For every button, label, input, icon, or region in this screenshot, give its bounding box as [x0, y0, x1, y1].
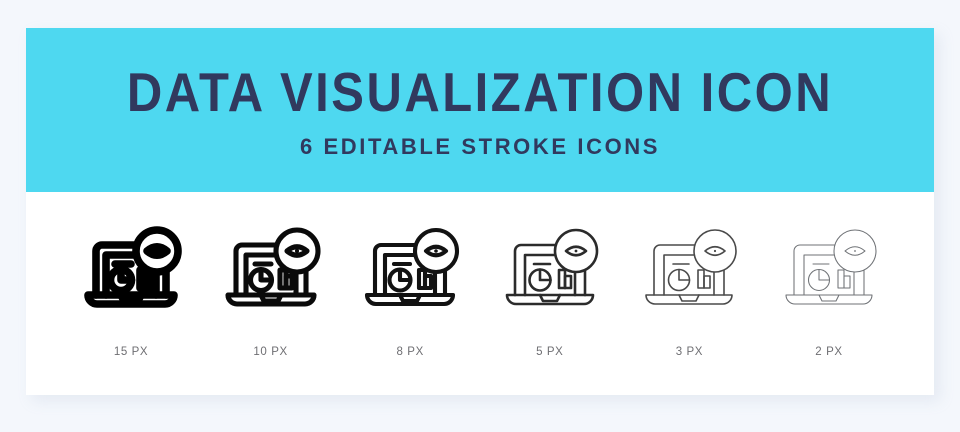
- laptop-data-visualization-eye-icon[interactable]: [637, 220, 741, 324]
- laptop-data-visualization-eye-icon[interactable]: [219, 220, 323, 324]
- icon-svg-2px: [777, 220, 881, 324]
- page-title: DATA VISUALIZATION ICON: [127, 66, 833, 121]
- icon-label: 10 PX: [253, 346, 287, 358]
- icon-svg-15px: [79, 220, 183, 324]
- icon-cell-10px[interactable]: 10 PX: [212, 220, 330, 358]
- laptop-data-visualization-eye-icon[interactable]: [79, 220, 183, 324]
- icon-showcase-row: 15 PX: [26, 192, 934, 395]
- laptop-data-visualization-eye-icon[interactable]: [777, 220, 881, 324]
- icon-cell-2px[interactable]: 2 PX: [770, 220, 888, 358]
- page-subtitle: 6 EDITABLE STROKE ICONS: [300, 136, 660, 158]
- icon-svg-8px: [358, 220, 462, 324]
- icon-cell-5px[interactable]: 5 PX: [491, 220, 609, 358]
- icon-label: 5 PX: [536, 346, 563, 358]
- icon-label: 8 PX: [397, 346, 424, 358]
- icon-cell-3px[interactable]: 3 PX: [630, 220, 748, 358]
- icon-svg-3px: [637, 220, 741, 324]
- header-banner: DATA VISUALIZATION ICON 6 EDITABLE STROK…: [26, 28, 934, 192]
- laptop-data-visualization-eye-icon[interactable]: [498, 220, 602, 324]
- icon-cell-8px[interactable]: 8 PX: [351, 220, 469, 358]
- icon-label: 15 PX: [114, 346, 148, 358]
- icon-cell-15px[interactable]: 15 PX: [72, 220, 190, 358]
- icon-label: 3 PX: [676, 346, 703, 358]
- icon-svg-5px: [498, 220, 602, 324]
- icon-label: 2 PX: [815, 346, 842, 358]
- icon-svg-10px: [219, 220, 323, 324]
- poster-page: DATA VISUALIZATION ICON 6 EDITABLE STROK…: [0, 0, 960, 432]
- poster-card: DATA VISUALIZATION ICON 6 EDITABLE STROK…: [26, 28, 934, 395]
- laptop-data-visualization-eye-icon[interactable]: [358, 220, 462, 324]
